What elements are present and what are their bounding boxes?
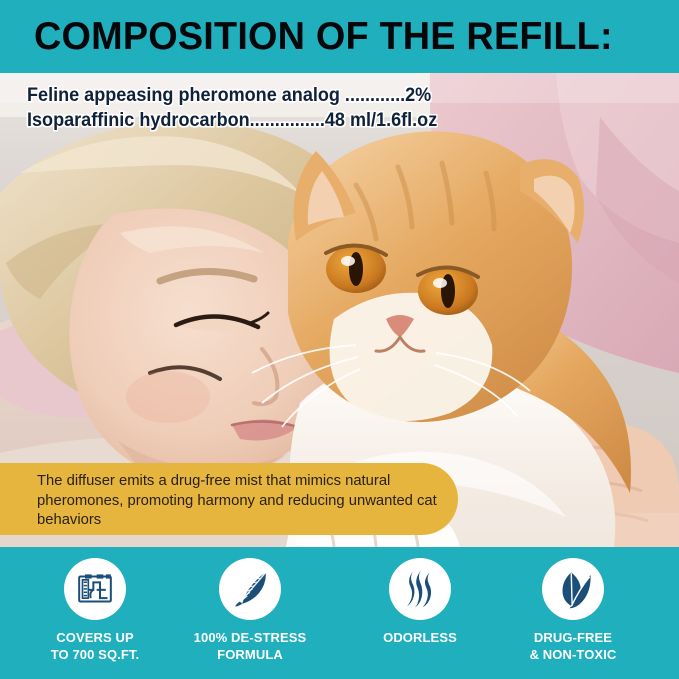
feature-odorless: ODORLESS — [345, 558, 495, 646]
header-band: COMPOSITION OF THE REFILL: — [0, 0, 679, 73]
feature-coverage-label-line1: COVERS UP — [56, 630, 133, 645]
feature-drugfree: DRUG-FREE & NON-TOXIC — [498, 558, 648, 663]
product-infographic: COMPOSITION OF THE REFILL: — [0, 0, 679, 679]
feather-icon — [229, 568, 271, 610]
feature-destress-label-line1: 100% DE-STRESS — [194, 630, 307, 645]
feature-destress: 100% DE-STRESS FORMULA — [175, 558, 325, 663]
feature-coverage-label-line2: TO 700 SQ.FT. — [51, 647, 139, 662]
benefit-callout-box: The diffuser emits a drug-free mist that… — [0, 463, 458, 535]
feature-band: COVERS UP TO 700 SQ.FT. — [0, 547, 679, 679]
feature-odorless-label-line1: ODORLESS — [383, 630, 457, 645]
composition-line-1: Feline appeasing pheromone analog ......… — [27, 83, 437, 108]
floor-plan-icon — [75, 569, 115, 609]
feature-drugfree-label: DRUG-FREE & NON-TOXIC — [498, 629, 648, 663]
feature-destress-label: 100% DE-STRESS FORMULA — [175, 629, 325, 663]
smoke-waves-icon — [402, 568, 438, 610]
feature-coverage-circle — [64, 558, 126, 620]
feature-odorless-circle — [389, 558, 451, 620]
feature-coverage: COVERS UP TO 700 SQ.FT. — [20, 558, 170, 663]
feature-drugfree-label-line1: DRUG-FREE — [534, 630, 612, 645]
composition-list: Feline appeasing pheromone analog ......… — [27, 83, 437, 133]
page-title: COMPOSITION OF THE REFILL: — [34, 14, 613, 60]
feature-destress-label-line2: FORMULA — [217, 647, 283, 662]
benefit-callout-text: The diffuser emits a drug-free mist that… — [37, 472, 437, 531]
feature-drugfree-label-line2: & NON-TOXIC — [530, 647, 617, 662]
feature-destress-circle — [219, 558, 281, 620]
feature-drugfree-circle — [542, 558, 604, 620]
composition-line-2: Isoparaffinic hydrocarbon...............… — [27, 108, 437, 133]
leaves-icon — [552, 568, 594, 610]
feature-coverage-label: COVERS UP TO 700 SQ.FT. — [20, 629, 170, 663]
feature-odorless-label: ODORLESS — [345, 629, 495, 646]
